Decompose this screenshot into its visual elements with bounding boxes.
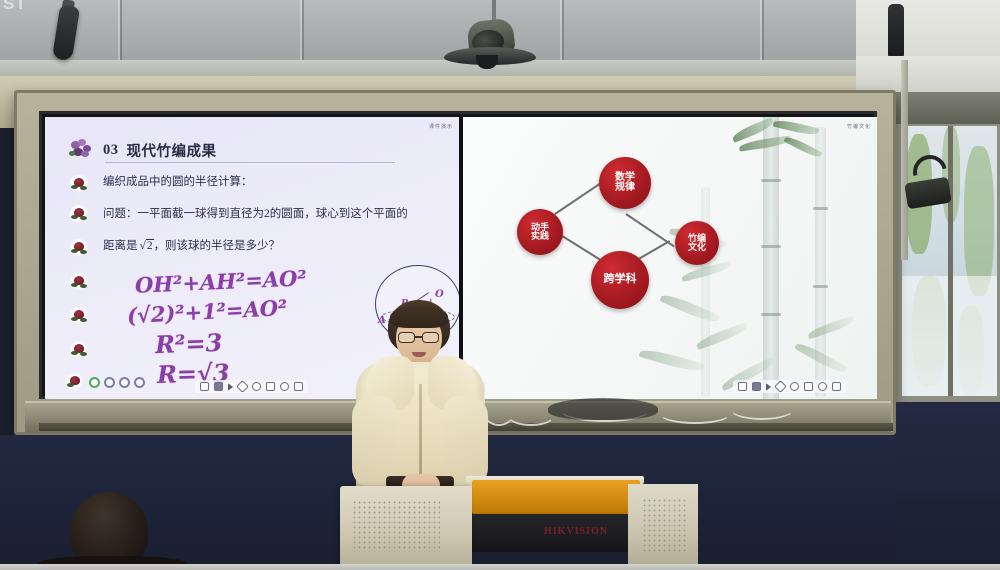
bamboo-leaf	[639, 346, 705, 375]
slide-line-3-pre: 距离是	[103, 240, 138, 252]
cable	[730, 398, 794, 420]
title-divider	[105, 162, 395, 163]
home-icon[interactable]	[200, 382, 209, 391]
mindmap-node-cross-discipline[interactable]: 跨学科	[591, 251, 649, 309]
watermark: ST	[3, 0, 27, 14]
glasses-icon	[398, 332, 415, 343]
rose-bullet-icon	[69, 273, 89, 291]
slide-title: 现代竹编成果	[127, 140, 217, 161]
sqrt-expression: √2	[138, 240, 154, 252]
podium-brand-label: HIKVISION	[544, 526, 608, 537]
grid-icon[interactable]	[752, 382, 761, 391]
mindmap-node-math-law[interactable]: 数学 规律	[599, 157, 651, 209]
left-corner-tag: 课件演示	[429, 123, 453, 130]
slide-title-row: 03 现代竹编成果	[69, 139, 217, 161]
grid-icon[interactable]	[214, 382, 223, 391]
slide-nav[interactable]	[65, 373, 145, 391]
mindmap-node-bamboo-culture-line2: 文化	[688, 242, 706, 252]
rose-bullet-icon	[69, 341, 89, 359]
left-screen-toolbar[interactable]	[195, 380, 308, 393]
flower-icon	[69, 139, 95, 161]
mindmap-node-cross-discipline-label: 跨学科	[604, 274, 637, 286]
shape-icon[interactable]	[804, 382, 813, 391]
slide-nav-dot-4[interactable]	[134, 377, 145, 388]
undo-icon[interactable]	[790, 382, 799, 391]
mindmap-node-bamboo-culture[interactable]: 竹编 文化	[675, 221, 719, 265]
bamboo-leaf	[659, 291, 720, 326]
window	[893, 92, 1000, 402]
arm-left	[352, 396, 396, 488]
podium-left-cabinet	[340, 486, 472, 566]
classroom-scene: ST	[0, 0, 1000, 570]
right-display-screen[interactable]: 数学 规律 动手 实践 竹编 文化	[463, 117, 877, 399]
vent-grille-icon	[642, 498, 688, 554]
right-screen-toolbar[interactable]	[733, 380, 846, 393]
cursor-icon[interactable]	[766, 383, 771, 391]
delete-icon[interactable]	[294, 382, 303, 391]
delete-icon[interactable]	[832, 382, 841, 391]
vent-grille-icon	[352, 500, 440, 552]
arm-right	[444, 396, 488, 488]
mindmap-link	[554, 181, 603, 215]
cable	[660, 404, 730, 424]
glasses-icon	[422, 332, 439, 343]
podium-right-cabinet	[628, 484, 698, 570]
ceiling-soffit	[856, 0, 1000, 62]
mindmap-node-handson[interactable]: 动手 实践	[517, 209, 563, 255]
home-icon[interactable]	[738, 382, 747, 391]
sqrt-radicand: 2	[146, 239, 154, 252]
handwriting-equation-3: R²=3	[155, 328, 223, 359]
handwriting-equation-2: (√2)²+1²=AO²	[126, 295, 287, 328]
comment-icon[interactable]	[818, 382, 827, 391]
bamboo-leaf	[773, 118, 820, 138]
bottom-bar	[0, 564, 1000, 570]
podium-front-panel	[472, 480, 640, 514]
mindmap-node-math-law-line2: 规律	[615, 182, 635, 193]
handwriting-equation-1: OH²+AH²=AO²	[135, 265, 308, 297]
slide-line-3-post: ，则该球的半径是多少？	[154, 240, 281, 252]
rose-bullet-icon	[69, 175, 89, 193]
pen-icon[interactable]	[236, 380, 249, 393]
slide-nav-dot-2[interactable]	[104, 377, 115, 388]
right-slide: 数学 规律 动手 实践 竹编 文化	[463, 117, 877, 399]
slide-nav-dot-1[interactable]	[89, 377, 100, 388]
figure-label-O: O	[435, 289, 444, 300]
rose-bullet-icon	[65, 373, 85, 391]
rose-bullet-icon	[69, 307, 89, 325]
cursor-icon[interactable]	[228, 383, 233, 391]
slide-line-3: 距离是√2，则该球的半径是多少？	[103, 237, 280, 253]
rose-bullet-icon	[69, 205, 89, 223]
shape-icon[interactable]	[266, 382, 275, 391]
pen-icon[interactable]	[774, 380, 787, 393]
projector-pole	[901, 60, 908, 260]
slide-section-number: 03	[103, 142, 119, 159]
glasses-bridge	[415, 336, 422, 338]
slide-line-2: 问题：一平面截一球得到直径为2的圆面，球心到这个平面的	[103, 205, 408, 221]
rose-bullet-icon	[69, 239, 89, 257]
comment-icon[interactable]	[280, 382, 289, 391]
hair-fringe	[390, 306, 448, 328]
right-corner-tag: 竹编文化	[847, 123, 871, 130]
lower-wall-right	[896, 402, 1000, 570]
slide-nav-dot-3[interactable]	[119, 377, 130, 388]
mindmap-node-math-law-line1: 数学	[615, 172, 635, 183]
slide-line-1: 编织成品中的圆的半径计算：	[103, 173, 253, 189]
speaker-icon-right	[888, 4, 904, 62]
coat-zipper	[419, 384, 422, 486]
mindmap-node-handson-line2: 实践	[531, 231, 549, 241]
cable-bundle	[548, 398, 658, 420]
undo-icon[interactable]	[252, 382, 261, 391]
